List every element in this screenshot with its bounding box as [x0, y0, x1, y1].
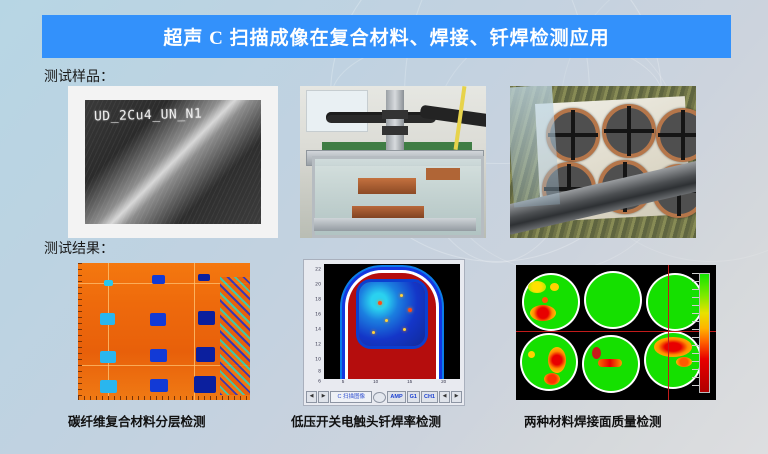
defect-indication [198, 274, 210, 281]
composite-plate-surface: UD_2Cu4_UN_N1 [85, 100, 261, 224]
cscan-edge-noise [220, 277, 250, 395]
defect-blob [548, 347, 566, 373]
cscan-toolbar: ◀ ▶ C 扫描图像 AMP G1 CH1 ◀ ▶ [306, 391, 462, 403]
defect-indication [152, 275, 165, 284]
y-tick: 22 [315, 268, 321, 273]
glass-reflection [510, 86, 560, 207]
scanner-z-axis-column [386, 90, 404, 158]
z-axis-clamp-upper [382, 110, 408, 119]
defect-indication [150, 379, 168, 392]
crosshair-vertical [668, 265, 669, 400]
amp-button[interactable]: AMP [387, 391, 405, 403]
slide-title-bar: 超声 C 扫描成像在复合材料、焊接、钎焊检测应用 [42, 15, 731, 58]
prev-button[interactable]: ◀ [306, 391, 317, 403]
hotspot [372, 331, 375, 334]
weld-scan-circle-2 [586, 273, 640, 327]
next-button[interactable]: ▶ [318, 391, 329, 403]
defect-indication [196, 347, 215, 362]
defect-blob [528, 351, 535, 358]
crosshair-horizontal [516, 331, 716, 332]
weld-scan-circle-4 [522, 335, 576, 389]
brazed-disc-2 [602, 104, 656, 158]
tank-bottom-bar [314, 218, 476, 231]
defect-blob [528, 281, 546, 293]
defect-blob [598, 359, 622, 367]
z-axis-clamp-lower [382, 126, 408, 135]
weld-scan-circle-5 [584, 337, 638, 391]
view-name-field[interactable]: C 扫描图像 [330, 391, 372, 403]
brazed-specimens-photo [510, 86, 696, 238]
weld-interface-quality-cscan [516, 265, 716, 400]
caption-result-3: 两种材料焊接面质量检测 [524, 411, 662, 430]
y-tick: 16 [315, 313, 321, 318]
x-tick: 5 [342, 379, 345, 384]
y-tick: 6 [318, 380, 321, 385]
y-tick: 10 [315, 358, 321, 363]
tank-specimen-3 [426, 168, 460, 180]
handwritten-specimen-label: UD_2Cu4_UN_N1 [94, 107, 203, 125]
contact-brazing-rate-cscan: 22 20 18 16 14 12 10 8 6 5 10 15 20 ◀ ▶ … [303, 259, 465, 406]
defect-blob [550, 283, 559, 291]
amplitude-colorbar [699, 273, 710, 393]
cscan-left-axis [78, 263, 82, 400]
defect-blob [654, 337, 692, 357]
defect-indication [194, 376, 216, 393]
channel-button[interactable]: CH1 [421, 391, 438, 403]
defect-indication [100, 313, 115, 325]
cscan-y-axis: 22 20 18 16 14 12 10 8 6 [304, 264, 324, 379]
step-back-button[interactable]: ◀ [439, 391, 450, 403]
defect-indication [100, 380, 117, 393]
composite-plate-photo: UD_2Cu4_UN_N1 [68, 86, 278, 238]
braze-zone [359, 282, 424, 345]
cscan-bottom-axis [78, 396, 250, 400]
caption-result-2: 低压开关电触头钎焊率检测 [291, 411, 441, 430]
cscan-plot-area [324, 264, 460, 379]
tank-specimen-1 [358, 178, 416, 194]
defect-blob [542, 297, 548, 303]
immersion-scanner-photo [300, 86, 486, 238]
results-section-label: 测试结果： [44, 238, 114, 258]
x-tick: 20 [441, 379, 446, 384]
weld-scan-circle-1 [524, 275, 578, 329]
defect-indication [150, 313, 166, 326]
y-tick: 12 [315, 343, 321, 348]
carbon-fiber-delamination-cscan [78, 263, 250, 400]
defect-indication [198, 311, 215, 325]
defect-blob [676, 357, 692, 367]
defect-blob [544, 373, 560, 385]
defect-blob [592, 347, 601, 359]
samples-section-label: 测试样品： [44, 66, 114, 86]
slide-title: 超声 C 扫描成像在复合材料、焊接、钎焊检测应用 [163, 23, 609, 50]
defect-indication [150, 349, 167, 362]
gate-button[interactable]: G1 [407, 391, 420, 403]
x-tick: 10 [373, 379, 378, 384]
y-tick: 14 [315, 328, 321, 333]
caption-result-1: 碳纤维复合材料分层检测 [68, 411, 206, 430]
scanner-window [306, 90, 368, 132]
defect-indication [100, 351, 116, 363]
y-tick: 18 [315, 298, 321, 303]
y-tick: 20 [315, 283, 321, 288]
y-tick: 8 [318, 370, 321, 375]
cscan-x-axis: 5 10 15 20 [324, 379, 460, 389]
step-forward-button[interactable]: ▶ [451, 391, 462, 403]
defect-blob [530, 305, 556, 321]
x-tick: 15 [407, 379, 412, 384]
defect-indication [104, 280, 113, 286]
gain-knob[interactable] [373, 392, 386, 403]
